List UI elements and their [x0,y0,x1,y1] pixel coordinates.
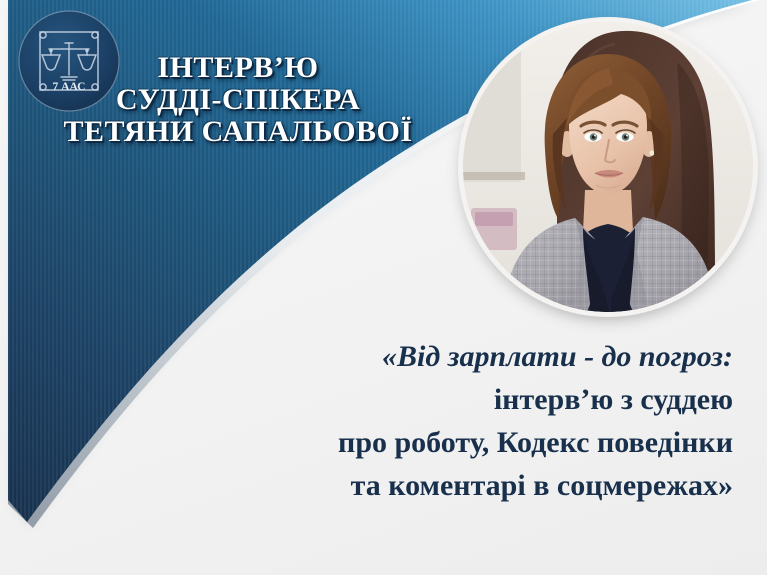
quote-line-2: інтерв’ю з суддею [213,379,733,422]
scales-of-justice-icon: 7 ААС [18,10,120,112]
portrait-illustration [463,22,753,312]
quote-line-1: «Від зарплати - до погроз: [213,336,733,379]
quote-line-3: про роботу, Кодекс поведінки [213,422,733,465]
headline-line-3: ТЕТЯНИ САПАЛЬОВОЇ [28,116,448,148]
judge-portrait-photo [463,22,753,312]
emblem-abbreviation: 7 ААС [53,81,86,93]
court-emblem: 7 ААС [18,10,120,112]
quote-block: «Від зарплати - до погроз: інтерв’ю з су… [213,336,733,508]
quote-line-4: та коментарі в соцмережах» [213,465,733,508]
poster-root: 7 ААС ІНТЕРВ’Ю СУДДІ-СПІКЕРА ТЕТЯНИ САПА… [0,0,767,575]
